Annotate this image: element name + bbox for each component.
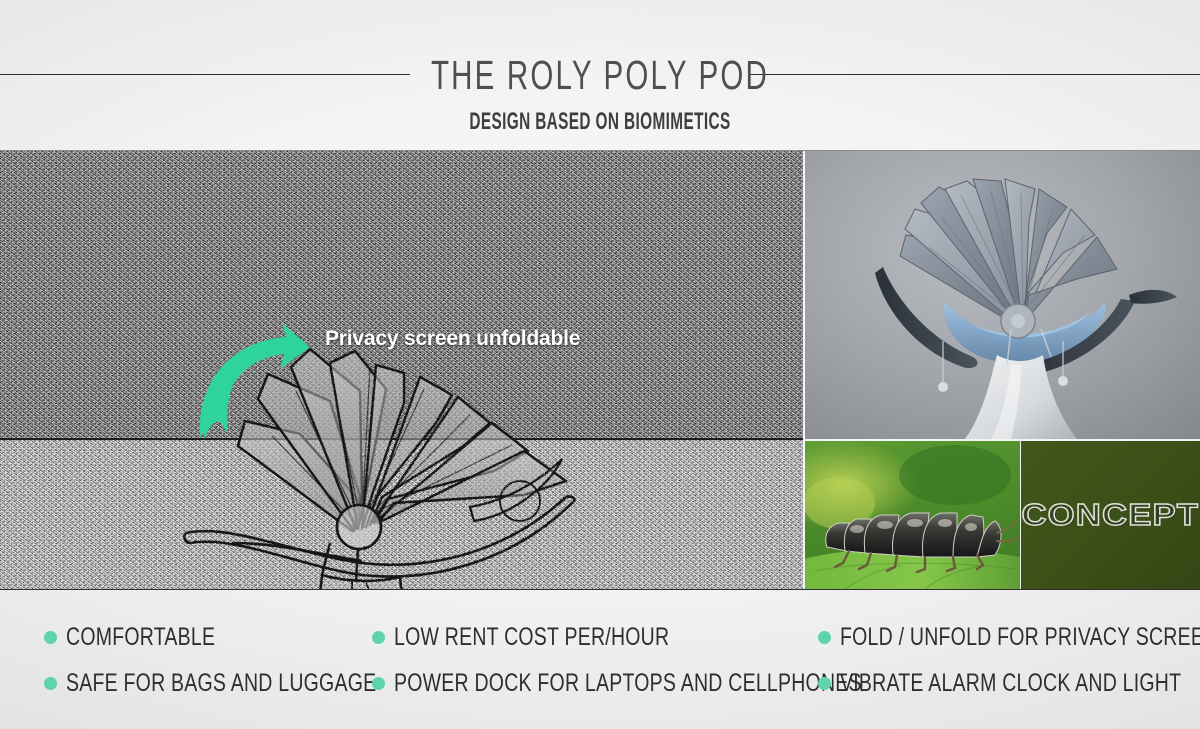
image-band: Privacy screen unfoldable Lock for lugga… <box>0 150 1200 590</box>
feature-label: FOLD / UNFOLD FOR PRIVACY SCREEN <box>840 623 1200 652</box>
board-header: THE ROLY POLY POD DESIGN BASED ON BIOMIM… <box>0 0 1200 148</box>
feature-label: COMFORTABLE <box>66 623 215 652</box>
pillbug-photo <box>805 441 1020 589</box>
lounge-pod-3d-render <box>805 151 1200 439</box>
feature-list: COMFORTABLE SAFE FOR BAGS AND LUGGAGE LO… <box>0 598 1200 729</box>
concept-label: CONCEPT <box>1022 497 1200 533</box>
lounge-pod-sketch <box>0 151 803 589</box>
list-item: FOLD / UNFOLD FOR PRIVACY SCREEN <box>818 614 1200 660</box>
bullet-icon <box>44 631 57 644</box>
feature-label: LOW RENT COST PER/HOUR <box>394 623 669 652</box>
list-item: VIBRATE ALARM CLOCK AND LIGHT <box>818 660 1200 706</box>
bullet-icon <box>818 677 831 690</box>
annotation-privacy-screen: Privacy screen unfoldable <box>325 327 580 351</box>
concept-panel: CONCEPT <box>1021 441 1200 589</box>
pillbug-photo-panel <box>805 441 1020 589</box>
feature-label: SAFE FOR BAGS AND LUGGAGE <box>66 669 376 698</box>
feature-label: VIBRATE ALARM CLOCK AND LIGHT <box>840 669 1181 698</box>
feature-label: POWER DOCK FOR LAPTOPS AND CELLPHONES <box>394 669 862 698</box>
render-panel <box>805 151 1200 439</box>
feature-column-3: FOLD / UNFOLD FOR PRIVACY SCREEN VIBRATE… <box>818 614 1200 706</box>
page-subtitle: DESIGN BASED ON BIOMIMETICS <box>216 108 984 136</box>
page-title: THE ROLY POLY POD <box>168 52 1032 99</box>
bullet-icon <box>372 631 385 644</box>
presentation-board: THE ROLY POLY POD DESIGN BASED ON BIOMIM… <box>0 0 1200 729</box>
bullet-icon <box>372 677 385 690</box>
concept-sketch-panel: Privacy screen unfoldable Lock for lugga… <box>0 151 803 589</box>
bullet-icon <box>818 631 831 644</box>
bullet-icon <box>44 677 57 690</box>
